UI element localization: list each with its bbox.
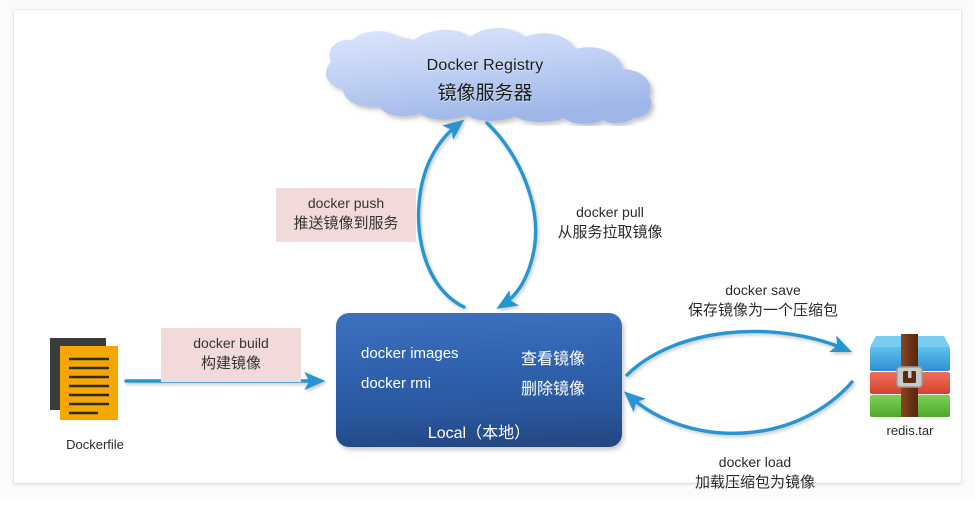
archive-node: redis.tar bbox=[854, 323, 970, 448]
archive-icon bbox=[854, 323, 964, 423]
local-desc-images: 查看镜像 bbox=[521, 345, 585, 369]
arrow-pull bbox=[487, 123, 536, 306]
edge-label-save-description: 保存镜像为一个压缩包 bbox=[654, 300, 872, 322]
arrow-save bbox=[627, 331, 847, 375]
edge-label-build-description: 构建镜像 bbox=[173, 353, 289, 374]
diagram-frame: Docker Registry 镜像服务器 docker images 查看镜像… bbox=[0, 0, 975, 500]
local-command-rmi: docker rmi bbox=[361, 375, 431, 392]
edge-label-pull: docker pull 从服务拉取镜像 bbox=[530, 202, 690, 244]
edge-label-load: docker load 加载压缩包为镜像 bbox=[646, 452, 864, 494]
local-desc-rmi: 删除镜像 bbox=[521, 375, 585, 399]
diagram-canvas: Docker Registry 镜像服务器 docker images 查看镜像… bbox=[14, 10, 961, 483]
dockerfile-node: Dockerfile bbox=[38, 335, 158, 457]
edge-label-push-command: docker push bbox=[288, 194, 404, 213]
edge-label-push-description: 推送镜像到服务 bbox=[288, 213, 404, 234]
cloud-shape bbox=[310, 28, 660, 126]
local-box: docker images 查看镜像 docker rmi 删除镜像 Local… bbox=[336, 313, 622, 447]
edge-label-pull-description: 从服务拉取镜像 bbox=[530, 222, 690, 244]
edge-label-save-command: docker save bbox=[654, 280, 872, 300]
cloud-registry: Docker Registry 镜像服务器 bbox=[310, 28, 660, 126]
edge-label-save: docker save 保存镜像为一个压缩包 bbox=[654, 280, 872, 322]
edge-label-load-description: 加载压缩包为镜像 bbox=[646, 472, 864, 494]
arrow-load bbox=[628, 382, 852, 433]
dockerfile-icon bbox=[38, 335, 148, 435]
local-footer-label: Local（本地） bbox=[336, 419, 622, 443]
edge-label-push: docker push 推送镜像到服务 bbox=[276, 188, 416, 242]
edge-label-build-command: docker build bbox=[173, 334, 289, 353]
registry-title: Docker Registry bbox=[310, 57, 660, 75]
edge-label-build: docker build 构建镜像 bbox=[161, 328, 301, 382]
arrow-push bbox=[419, 123, 464, 307]
archive-label: redis.tar bbox=[852, 423, 968, 438]
dockerfile-label: Dockerfile bbox=[35, 437, 155, 452]
local-command-images: docker images bbox=[361, 345, 459, 362]
edge-label-load-command: docker load bbox=[646, 452, 864, 472]
edge-label-pull-command: docker pull bbox=[530, 202, 690, 222]
registry-subtitle: 镜像服务器 bbox=[310, 78, 660, 105]
